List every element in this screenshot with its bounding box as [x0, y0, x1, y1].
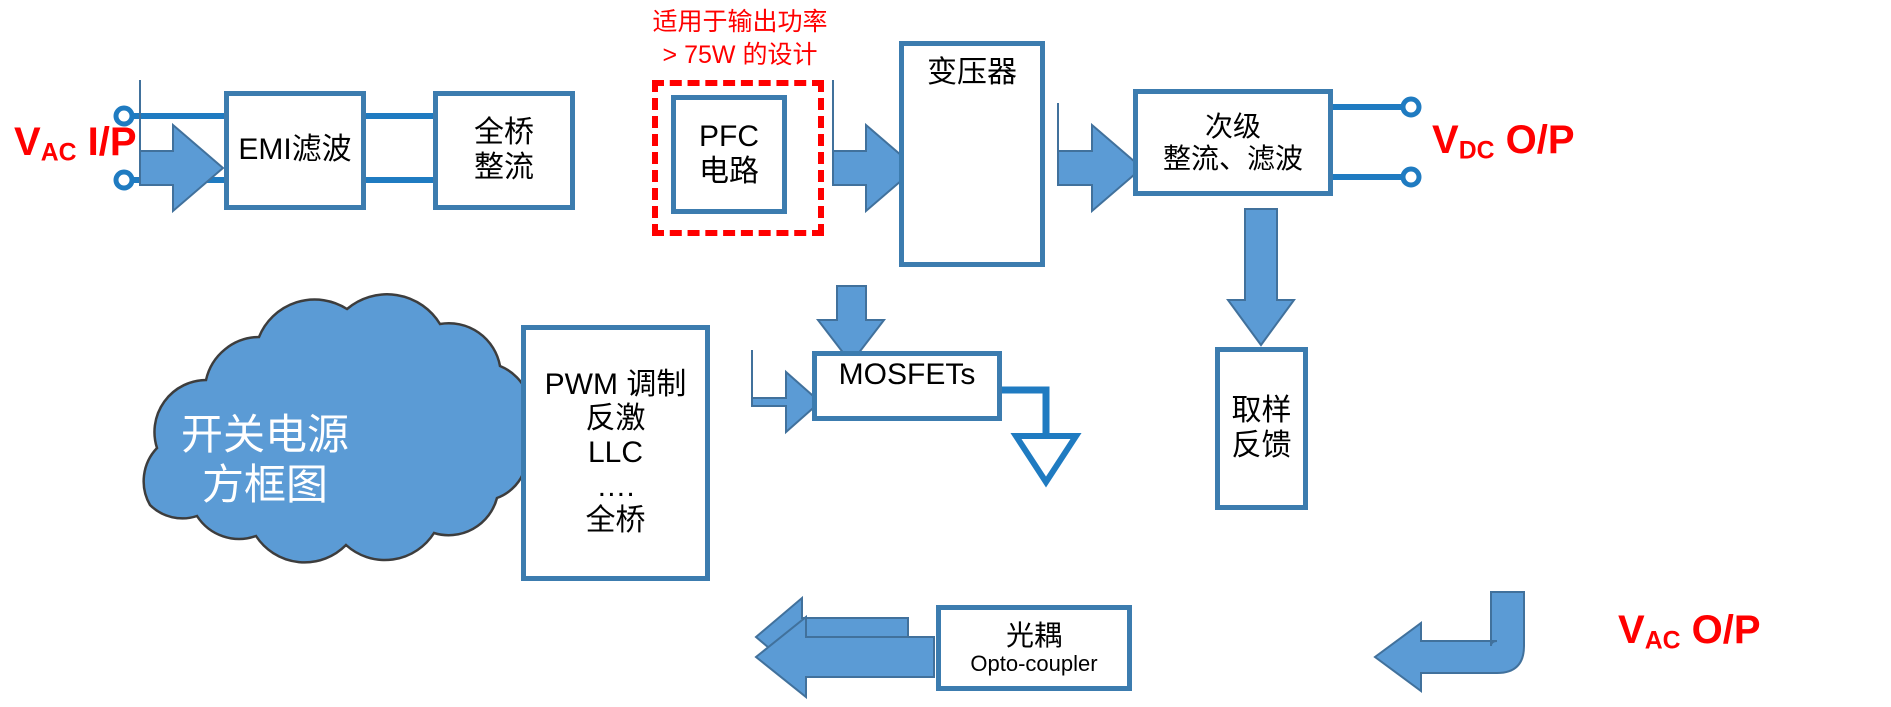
block-bridge-rectifier[interactable]: 全桥 整流 [433, 91, 575, 210]
arrow-pwm-to-mosfets [752, 350, 820, 432]
block-emi-filter-line-0: EMI滤波 [238, 133, 351, 167]
label-vac-input-sub: AC [41, 139, 77, 166]
block-optocoupler-en: Opto-coupler [970, 651, 1097, 676]
block-emi-filter[interactable]: EMI滤波 [224, 91, 366, 210]
block-secondary-line-0: 次级 [1205, 111, 1261, 143]
label-vac-output-v: V [1618, 608, 1645, 652]
label-vdc-output-tail: O/P [1495, 118, 1575, 162]
block-secondary-line-1: 整流、滤波 [1163, 143, 1303, 175]
label-vac-output-tail: O/P [1681, 608, 1761, 652]
block-mosfets[interactable]: MOSFETs [812, 351, 1002, 421]
block-mosfets-label: MOSFETs [839, 358, 976, 392]
block-sampling-feedback[interactable]: 取样 反馈 [1215, 347, 1308, 510]
label-vdc-output-sub: DC [1459, 137, 1495, 164]
label-vdc-output-v: V [1432, 118, 1459, 162]
block-pwm-line-2: LLC [588, 436, 643, 470]
block-bridge-rectifier-line-1: 整流 [474, 151, 534, 185]
block-optocoupler-cn: 光耦 [1006, 620, 1062, 652]
label-vdc-output: VDC O/P [1432, 118, 1575, 165]
mosfet-output-connector [1000, 390, 1076, 482]
arrow-rectifier-to-pfc [140, 80, 223, 211]
label-vac-input-v: V [14, 120, 41, 164]
label-vac-input: VAC I/P [14, 120, 137, 167]
pfc-note-text: 适用于输出功率 > 75W 的设计 [600, 6, 880, 71]
diagram-canvas: EMI滤波 全桥 整流 PFC 电路 变压器 次级 整流、滤波 PWM 调制 反… [0, 0, 1891, 707]
pfc-note-line-0: 适用于输出功率 [600, 6, 880, 39]
block-pfc-circuit-line-1: 电路 [699, 155, 759, 189]
label-vac-input-tail: I/P [77, 120, 137, 164]
label-vac-output: VAC O/P [1618, 608, 1761, 655]
label-vac-output-sub: AC [1645, 627, 1681, 654]
block-transformer[interactable]: 变压器 [899, 41, 1045, 267]
block-pwm-modulation[interactable]: PWM 调制 反激 LLC …. 全桥 [521, 325, 710, 581]
block-secondary-rectify-filter[interactable]: 次级 整流、滤波 [1133, 89, 1333, 196]
cloud-label-line-1: 方框图 [100, 460, 430, 510]
block-pwm-line-3: …. [596, 470, 634, 504]
cloud-label-line-0: 开关电源 [100, 410, 430, 460]
arrow-sampling-to-opto [1375, 592, 1524, 691]
block-pwm-line-4: 全桥 [586, 504, 646, 538]
block-sampling-line-1: 反馈 [1232, 429, 1292, 463]
block-pfc-circuit-line-0: PFC [699, 120, 759, 154]
cloud-label: 开关电源 方框图 [100, 410, 430, 511]
arrow-transformer-to-secondary [1058, 103, 1142, 211]
block-transformer-title: 变压器 [927, 56, 1017, 90]
output-terminals [1332, 99, 1419, 185]
pfc-note-line-1: > 75W 的设计 [600, 39, 880, 72]
block-pfc-circuit[interactable]: PFC 电路 [671, 95, 787, 214]
block-bridge-rectifier-line-0: 全桥 [474, 116, 534, 150]
block-optocoupler[interactable]: 光耦 Opto-coupler [936, 605, 1132, 691]
arrow-secondary-to-sampling [1228, 209, 1294, 345]
block-pwm-line-0: PWM 调制 [545, 368, 687, 402]
block-sampling-line-0: 取样 [1232, 394, 1292, 428]
emi-to-rectifier-wires [365, 116, 434, 180]
block-pwm-line-1: 反激 [586, 402, 646, 436]
